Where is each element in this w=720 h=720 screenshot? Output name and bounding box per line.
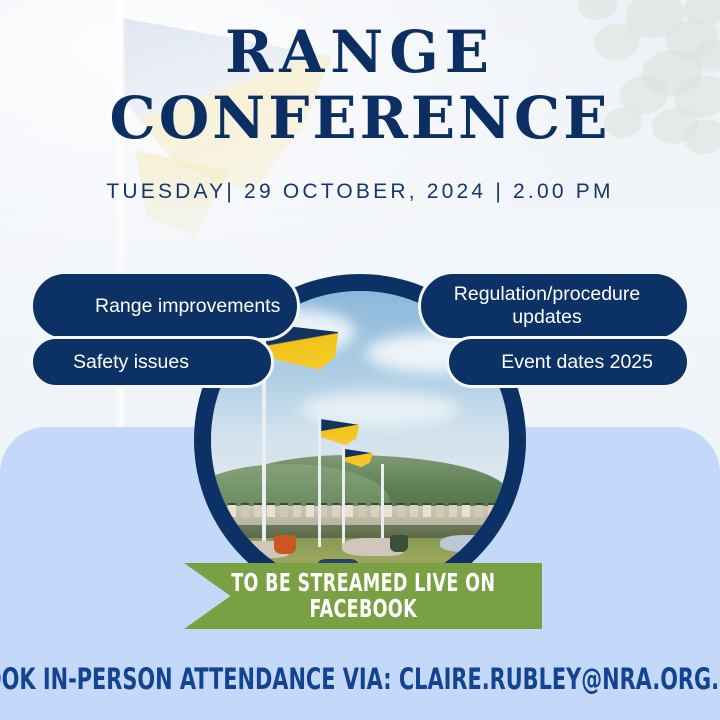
photo-targets <box>211 503 509 516</box>
topic-pill-event-dates[interactable]: Event dates 2025 <box>446 336 690 388</box>
ribbon-line-2: FACEBOOK <box>231 596 495 622</box>
page-title-line2: CONFERENCE <box>0 92 720 145</box>
livestream-ribbon: TO BE STREAMED LIVE ON FACEBOOK <box>184 563 542 629</box>
livestream-ribbon-inner: TO BE STREAMED LIVE ON FACEBOOK <box>184 563 542 629</box>
topic-pill-label: Regulation/procedure updates <box>421 283 673 329</box>
topic-pill-range-improvements[interactable]: Range improvements <box>30 271 300 341</box>
event-datetime: TUESDAY| 29 OCTOBER, 2024 | 2.00 PM <box>0 180 720 204</box>
poster-canvas: RANGE CONFERENCE TUESDAY| 29 OCTOBER, 20… <box>0 0 720 720</box>
booking-footer: BOOK IN-PERSON ATTENDANCE VIA: CLAIRE.RU… <box>0 638 720 720</box>
photo-flagpole-3 <box>342 446 345 547</box>
livestream-ribbon-text: TO BE STREAMED LIVE ON FACEBOOK <box>231 570 495 622</box>
page-title-line1: RANGE <box>0 26 720 79</box>
topic-pill-regulation-updates[interactable]: Regulation/procedure updates <box>418 271 690 341</box>
booking-email-text[interactable]: BOOK IN-PERSON ATTENDANCE VIA: CLAIRE.RU… <box>0 662 720 696</box>
ribbon-line-1: TO BE STREAMED LIVE ON <box>231 570 495 596</box>
photo-flagpole-4 <box>381 464 384 547</box>
photo-shooter-3 <box>440 535 498 552</box>
topic-pill-label: Safety issues <box>63 351 199 374</box>
topic-pill-label: Range improvements <box>85 295 290 318</box>
photo-flagpole-2 <box>318 416 321 547</box>
topic-pill-label: Event dates 2025 <box>491 351 663 374</box>
topic-pill-safety-issues[interactable]: Safety issues <box>30 336 274 388</box>
background-flagpole-finial <box>116 0 125 16</box>
photo-kit-2 <box>390 535 408 552</box>
photo-kit-1 <box>274 535 296 554</box>
